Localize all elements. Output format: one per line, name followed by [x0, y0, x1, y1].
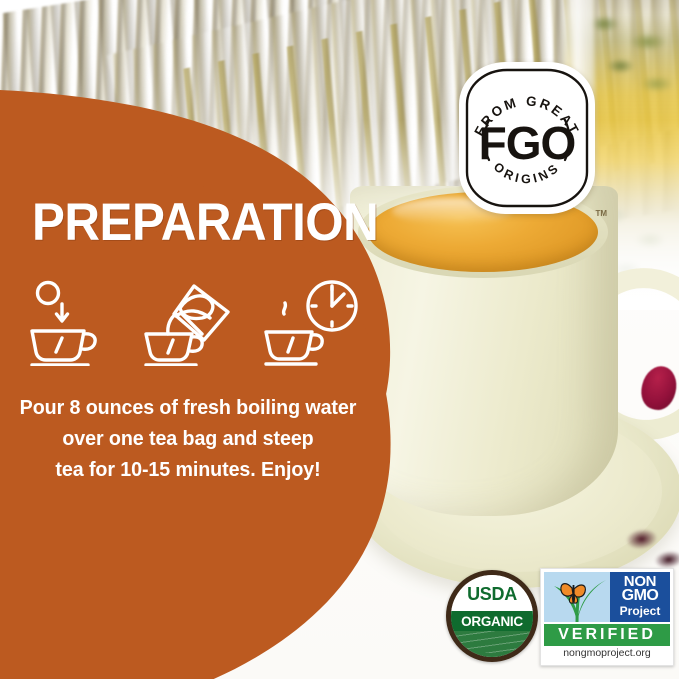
instruction-line-2: over one tea bag and steep — [15, 423, 361, 454]
step-3 — [262, 278, 362, 366]
teabag-drop-into-cup-icon — [18, 278, 118, 366]
step-1 — [18, 278, 118, 366]
butterfly-and-grass-icon — [544, 572, 610, 622]
gmo-sky-panel — [544, 572, 610, 622]
product-image-panel: PREPARATION — [0, 0, 679, 679]
instruction-line-3: tea for 10-15 minutes. Enjoy! — [15, 454, 361, 485]
instruction-line-1: Pour 8 ounces of fresh boiling water — [15, 392, 361, 423]
fgo-logo-art: FROM GREAT ORIGINS FGO — [459, 62, 595, 214]
usda-organic-seal: USDA ORGANIC — [446, 570, 538, 662]
gmo-project-label: Project — [610, 604, 670, 618]
non-gmo-project-verified-badge: NON GMO Project VERIFIED nongmoproject.o… — [540, 568, 674, 666]
page-title: PREPARATION — [32, 196, 339, 249]
pour-kettle-into-cup-icon — [140, 278, 240, 366]
preparation-steps — [18, 276, 368, 366]
organic-label: ORGANIC — [461, 614, 523, 629]
preparation-content: PREPARATION — [0, 0, 400, 679]
fgo-logo: FROM GREAT ORIGINS FGO TM — [459, 62, 595, 214]
preparation-instructions: Pour 8 ounces of fresh boiling water ove… — [8, 392, 368, 485]
usda-label: USDA — [451, 584, 533, 605]
steeping-cup-with-clock-icon — [262, 278, 362, 366]
usda-organic-band: ORGANIC — [451, 611, 533, 631]
step-2 — [140, 278, 240, 366]
gmo-gmo-label: GMO — [610, 587, 670, 605]
trademark-symbol: TM — [595, 209, 607, 218]
gmo-badge-top: NON GMO Project — [544, 572, 670, 622]
gmo-verified-band: VERIFIED — [544, 624, 670, 646]
svg-text:FGO: FGO — [479, 117, 576, 169]
usda-seal-inner: USDA ORGANIC — [451, 575, 533, 657]
gmo-website-url: nongmoproject.org — [544, 647, 670, 659]
gmo-text-panel: NON GMO Project — [610, 572, 670, 622]
